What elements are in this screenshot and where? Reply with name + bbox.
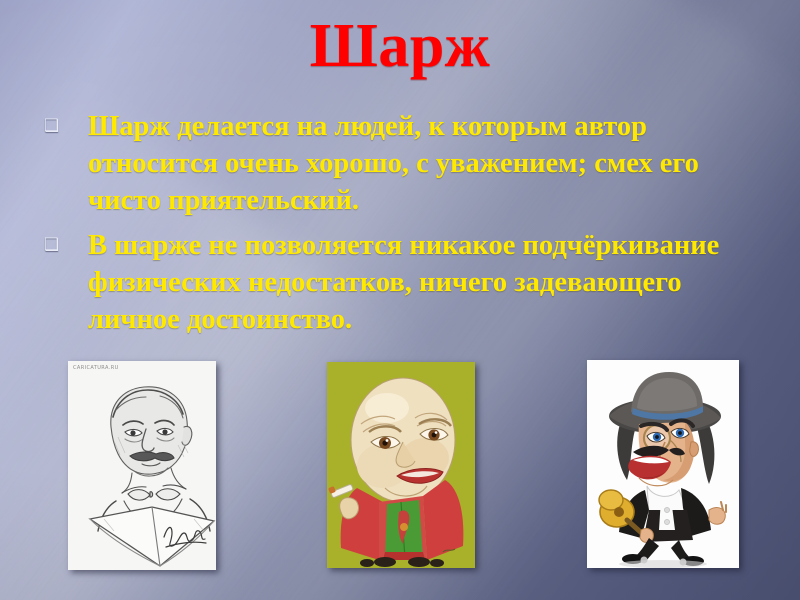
image-watermark: CARICATURA.RU <box>73 365 119 371</box>
list-item: ❑ В шарже не позволяется никакое подчёрк… <box>44 227 768 338</box>
list-item: ❑ Шарж делается на людей, к которым авто… <box>44 108 768 219</box>
presentation-slide: Шарж ❑ Шарж делается на людей, к которым… <box>0 0 800 600</box>
slide-title: Шарж <box>0 14 800 79</box>
list-item-text: В шарже не позволяется никакое подчёркив… <box>88 227 768 338</box>
square-bullet-icon: ❑ <box>44 108 88 135</box>
cartoon-caricature-illustration <box>587 360 739 568</box>
square-bullet-icon: ❑ <box>44 227 88 254</box>
caricature-image-1: CARICATURA.RU <box>68 361 216 570</box>
caricature-image-3 <box>587 360 739 568</box>
caricature-image-2 <box>327 362 475 568</box>
pencil-caricature-illustration <box>68 361 216 570</box>
bullet-list: ❑ Шарж делается на людей, к которым авто… <box>44 108 768 346</box>
color-caricature-illustration <box>327 362 475 568</box>
list-item-text: Шарж делается на людей, к которым автор … <box>88 108 768 219</box>
